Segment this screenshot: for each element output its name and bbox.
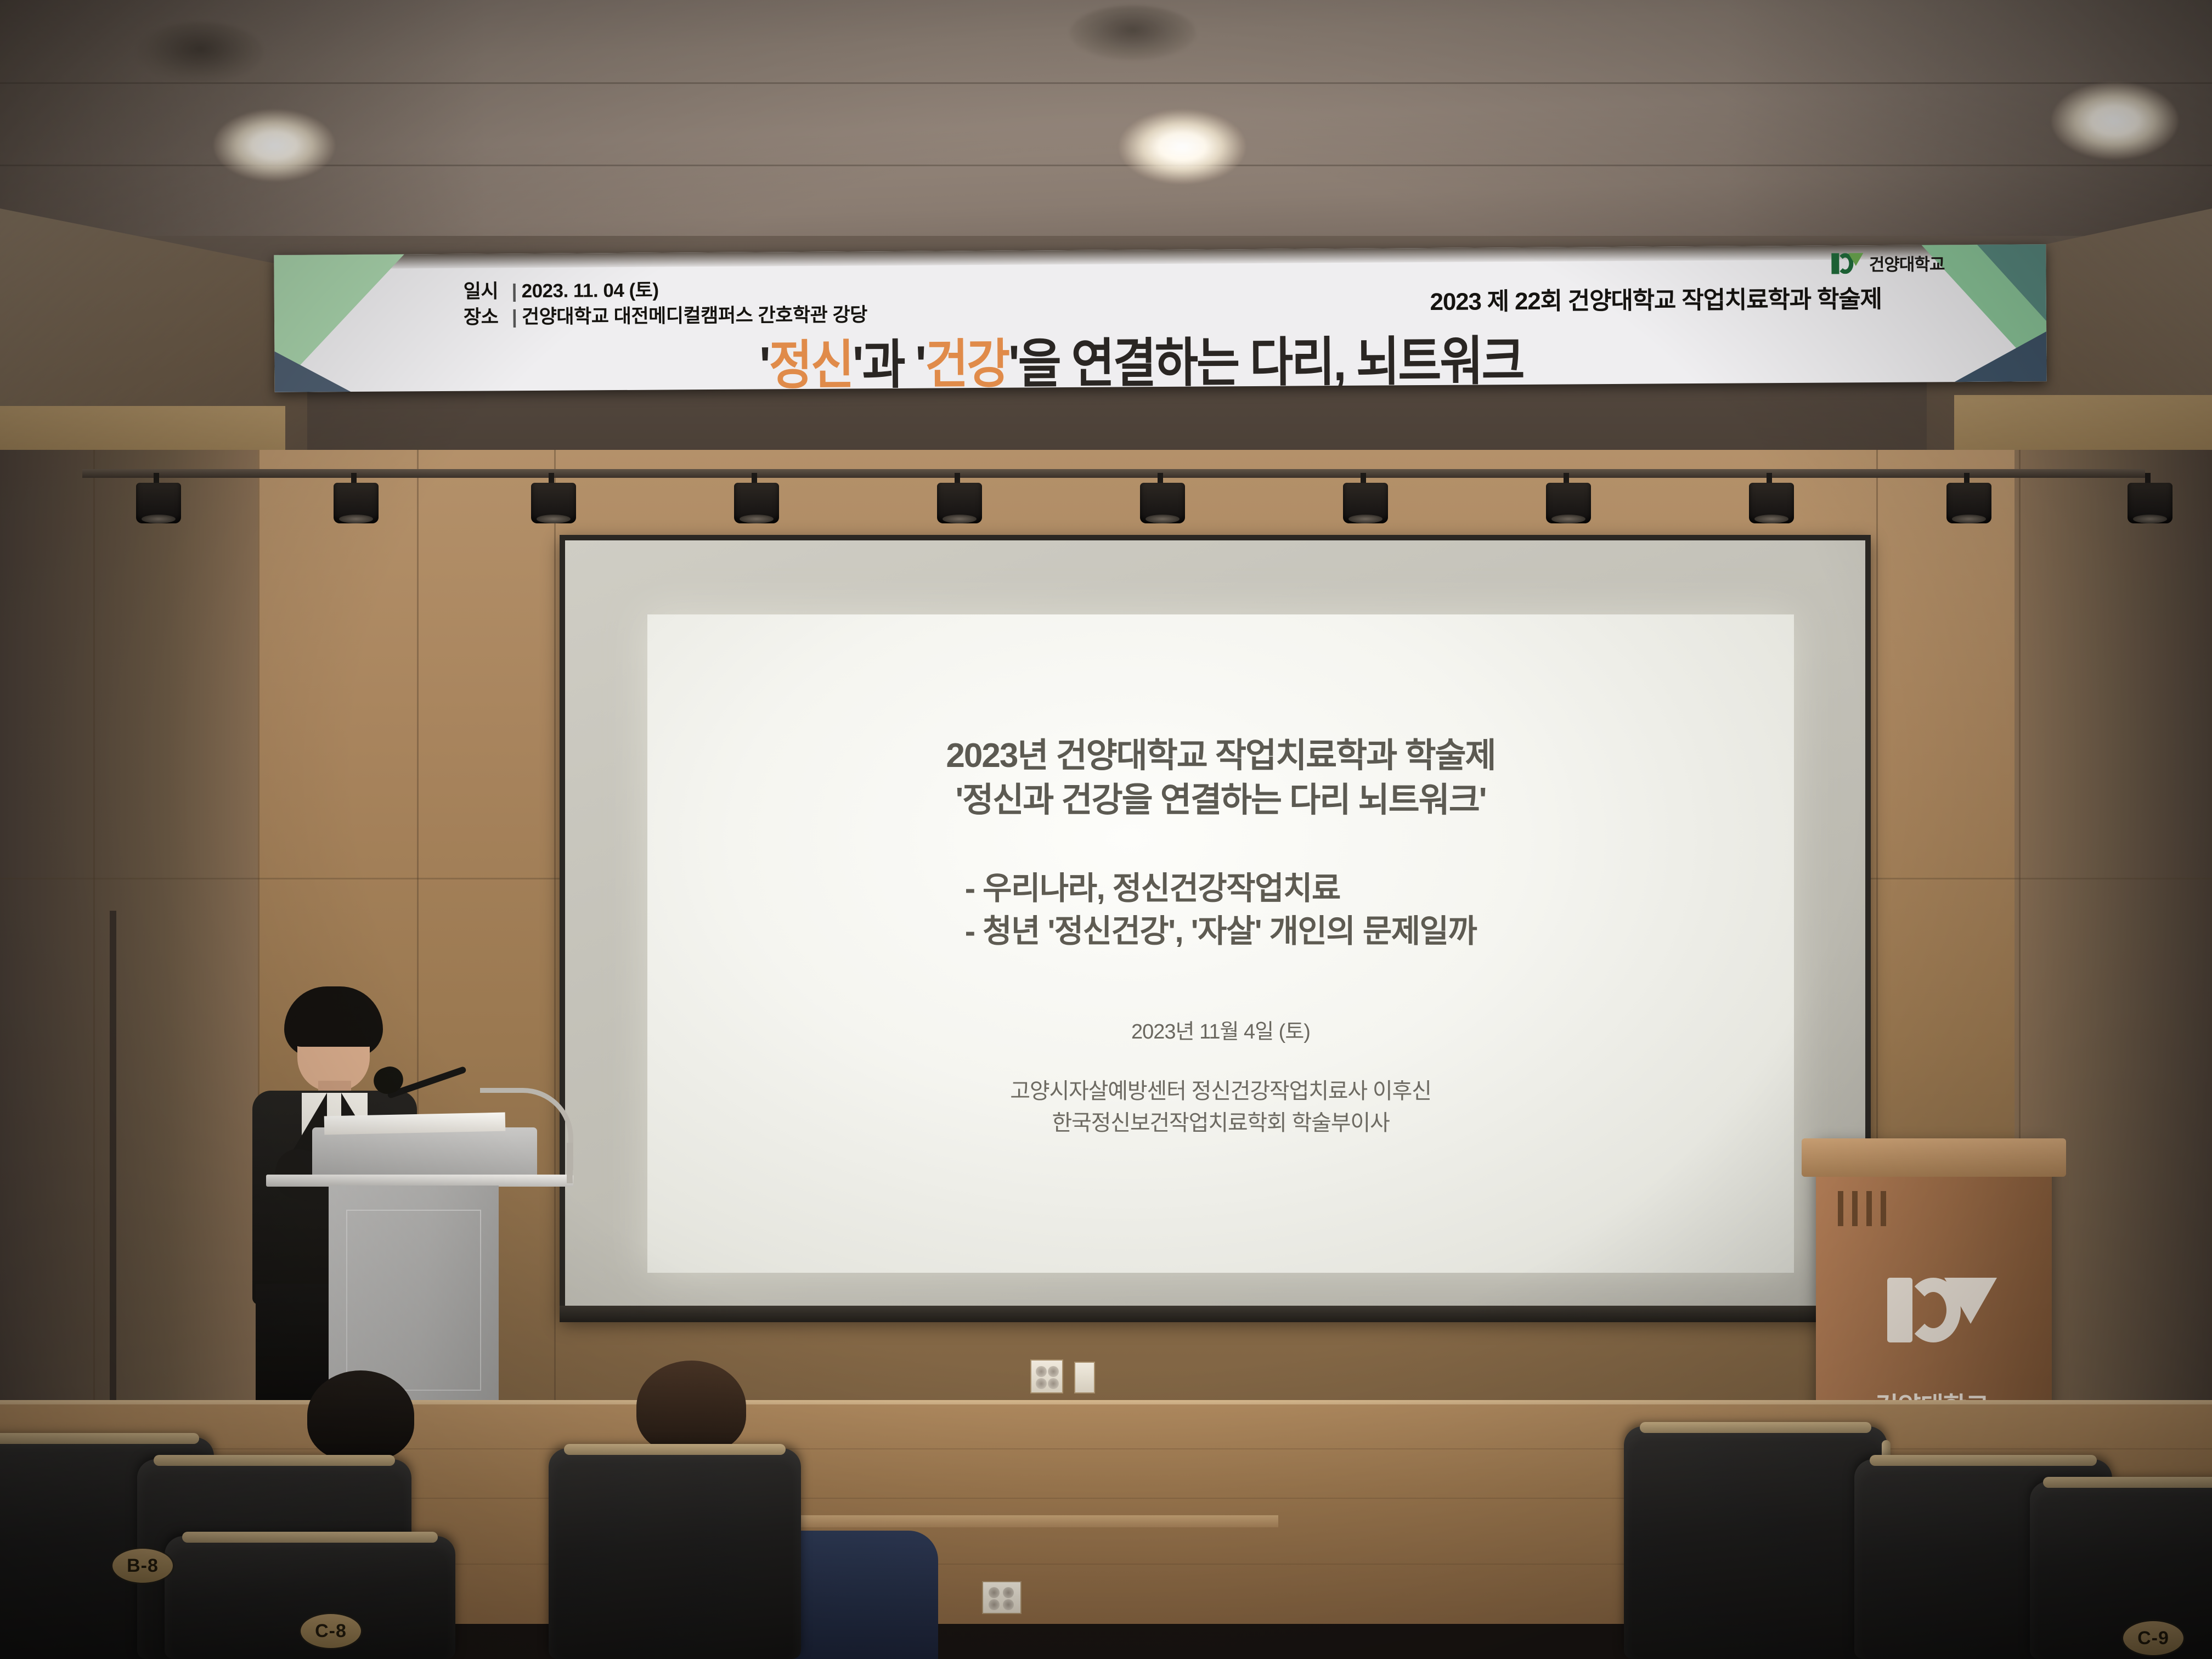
projection-screen-bottom-bar <box>560 1306 1871 1322</box>
auditorium-seat <box>549 1448 801 1659</box>
seat-label: B-8 <box>112 1549 173 1583</box>
banner-university-logo: 건양대학교 <box>1832 250 1945 275</box>
banner-meta-date-row: 일시|2023. 11. 04 (토) <box>464 276 867 304</box>
ceiling-downlight-icon <box>214 110 335 181</box>
stage-light-icon <box>1339 473 1392 532</box>
wall-panel-seam <box>0 878 560 879</box>
slide-credit-line-1: 고양시자살예방센터 정신건강작업치료사 이후신 <box>1010 1075 1431 1107</box>
slide-bullet-item: - 청년 '정신건강', '자살' 개인의 문제일까 <box>965 910 1477 953</box>
banner-meta-date-value: 2023. 11. 04 (토) <box>522 280 659 302</box>
presentation-slide: 2023년 건양대학교 작업치료학과 학술제 '정신과 건강을 연결하는 다리 … <box>647 614 1794 1273</box>
light-switch-icon <box>1074 1362 1095 1393</box>
ceiling-seam <box>0 165 2212 166</box>
event-banner: 일시|2023. 11. 04 (토) 장소|건양대학교 대전메디컬캠퍼스 간호… <box>274 244 2046 392</box>
seat-label: C-9 <box>2123 1621 2183 1655</box>
banner-meta-sep: | <box>512 279 522 304</box>
audience-head <box>307 1370 414 1461</box>
banner-title-highlight-health: 건강 <box>925 335 1009 392</box>
ceiling-recess <box>1070 5 1196 60</box>
wooden-lectern-detail <box>1838 1191 1893 1226</box>
banner-title-quote: ' <box>759 336 769 392</box>
power-outlet-icon <box>1030 1359 1063 1393</box>
ceiling-downlight-icon <box>2052 82 2178 159</box>
stage-light-icon <box>1942 473 1996 532</box>
stage-light-icon <box>132 473 185 532</box>
slide-credit-line-2: 한국정신보건작업치료학회 학술부이사 <box>1010 1107 1431 1139</box>
wall-conduit <box>110 911 116 1404</box>
speaker-hair <box>289 1007 381 1047</box>
stage-step <box>785 1515 1278 1527</box>
seat-label: C-8 <box>301 1614 361 1648</box>
wall-panel-seam <box>1865 878 2212 879</box>
banner-title-rest: '을 연결하는 다리, 뇌트워크 <box>1008 332 1523 392</box>
left-wall-panel <box>0 450 258 1415</box>
banner-title: '정신'과 '건강'을 연결하는 다리, 뇌트워크 <box>274 315 2008 392</box>
stage-light-icon <box>1136 473 1189 532</box>
wooden-lectern-top <box>1802 1138 2066 1177</box>
power-outlet-icon <box>982 1581 1022 1614</box>
lecture-hall-photo: 일시|2023. 11. 04 (토) 장소|건양대학교 대전메디컬캠퍼스 간호… <box>0 0 2212 1659</box>
auditorium-seat <box>1624 1426 1887 1659</box>
stage-light-icon <box>1745 473 1798 532</box>
ceiling-downlight-icon <box>1119 110 1245 184</box>
banner-subtitle: 2023 제 22회 건양대학교 작업치료학과 학술제 <box>1430 279 1882 317</box>
ky-logo-icon <box>1887 1270 1997 1380</box>
slide-bullet-item: - 우리나라, 정신건강작업치료 <box>965 867 1477 910</box>
lighting-truss <box>82 469 2145 478</box>
slide-title: 2023년 건양대학교 작업치료학과 학술제 '정신과 건강을 연결하는 다리 … <box>946 734 1495 822</box>
lectern <box>321 1127 524 1413</box>
wall-panel-seam <box>93 450 95 1415</box>
ceiling-recess <box>137 22 263 82</box>
lectern-papers <box>324 1113 506 1135</box>
audience-head <box>636 1361 746 1454</box>
ky-logo-icon <box>1832 252 1864 275</box>
banner-title-highlight-mind: 정신 <box>769 336 853 392</box>
slide-credits: 고양시자살예방센터 정신건강작업치료사 이후신 한국정신보건작업치료학회 학술부… <box>1010 1075 1431 1139</box>
slide-title-line-2: '정신과 건강을 연결하는 다리 뇌트워크' <box>946 778 1495 823</box>
banner-meta-date-key: 일시 <box>464 279 512 304</box>
stage-light-icon <box>527 473 580 532</box>
banner-title-mid: '과 ' <box>853 335 926 392</box>
slide-bullet-list: - 우리나라, 정신건강작업치료 - 청년 '정신건강', '자살' 개인의 문… <box>965 867 1477 952</box>
slide-title-line-1: 2023년 건양대학교 작업치료학과 학술제 <box>946 734 1495 778</box>
banner-logo-text: 건양대학교 <box>1869 250 1945 275</box>
stage-light-icon <box>1542 473 1595 532</box>
stage-light-icon <box>730 473 783 532</box>
slide-date: 2023년 11월 4일 (토) <box>1131 1014 1310 1045</box>
stage-light-icon <box>933 473 986 532</box>
stage-light-icon <box>2123 473 2177 532</box>
auditorium-seat <box>2030 1481 2212 1659</box>
ceiling-seam <box>0 82 2212 84</box>
wall-panel-seam <box>554 450 556 1415</box>
stage-light-icon <box>329 473 383 532</box>
